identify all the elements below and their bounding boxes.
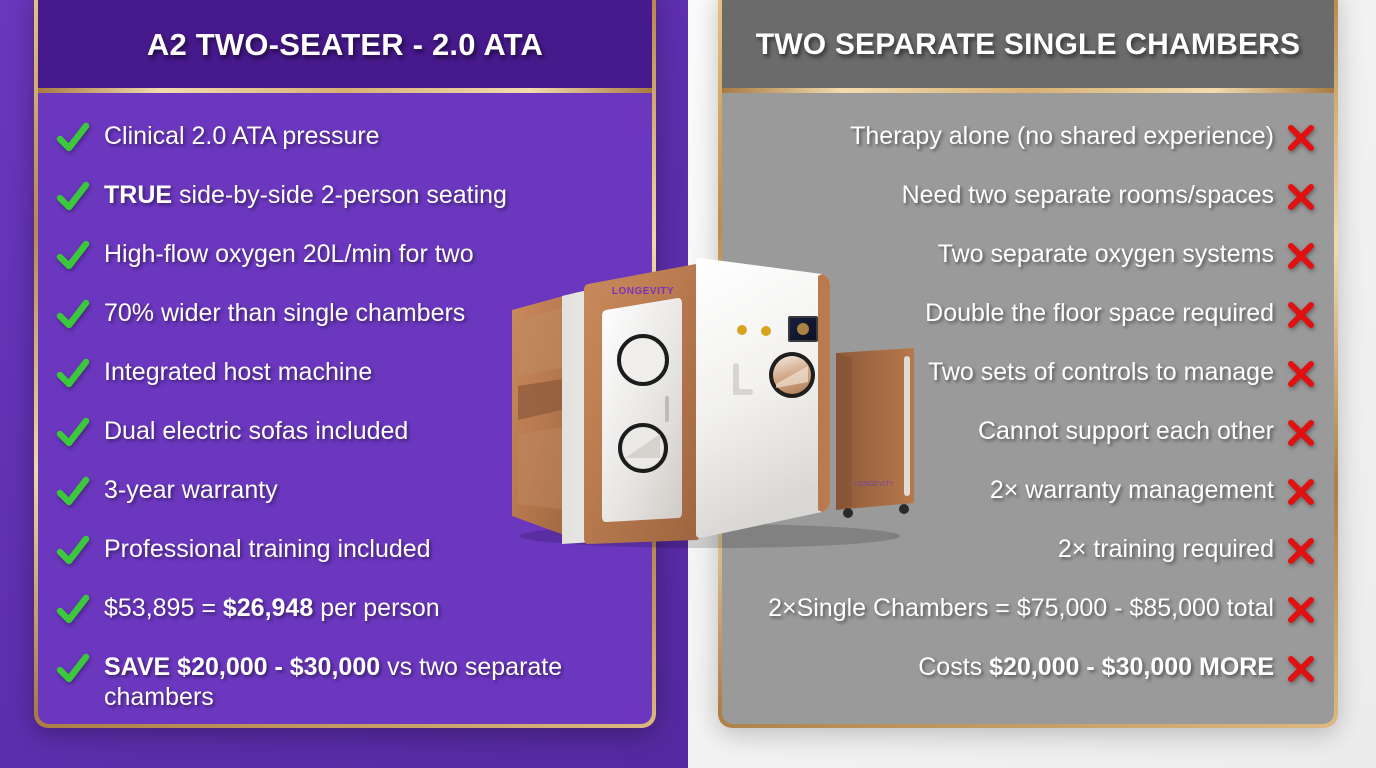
left-feature-row: High-flow oxygen 20L/min for two bbox=[56, 237, 634, 296]
right-feature-text: 2×Single Chambers = $75,000 - $85,000 to… bbox=[768, 591, 1274, 623]
right-feature-row: Need two separate rooms/spaces bbox=[740, 178, 1316, 237]
left-feature-text: 70% wider than single chambers bbox=[104, 296, 465, 328]
right-feature-row: 2× training required bbox=[740, 532, 1316, 591]
left-feature-row: $53,895 = $26,948 per person bbox=[56, 591, 634, 650]
right-feature-row: Costs $20,000 - $30,000 MORE bbox=[740, 650, 1316, 709]
right-card-header: TWO SEPARATE SINGLE CHAMBERS bbox=[722, 0, 1334, 88]
cross-icon bbox=[1286, 241, 1316, 271]
left-feature-row: Professional training included bbox=[56, 532, 634, 591]
left-card-header: A2 TWO-SEATER - 2.0 ATA bbox=[38, 0, 652, 88]
check-icon bbox=[56, 180, 90, 214]
left-feature-text: 3-year warranty bbox=[104, 473, 278, 505]
check-icon bbox=[56, 652, 90, 686]
right-feature-row: 2×Single Chambers = $75,000 - $85,000 to… bbox=[740, 591, 1316, 650]
left-feature-row: TRUE side-by-side 2-person seating bbox=[56, 178, 634, 237]
cross-icon bbox=[1286, 536, 1316, 566]
right-feature-text: 2× training required bbox=[1058, 532, 1274, 564]
cross-icon bbox=[1286, 123, 1316, 153]
right-feature-list: Therapy alone (no shared experience) Nee… bbox=[740, 119, 1316, 709]
left-feature-text: $53,895 = $26,948 per person bbox=[104, 591, 440, 623]
right-feature-text: Cannot support each other bbox=[978, 414, 1274, 446]
right-feature-text: 2× warranty management bbox=[990, 473, 1274, 505]
left-feature-row: Clinical 2.0 ATA pressure bbox=[56, 119, 634, 178]
right-feature-row: Therapy alone (no shared experience) bbox=[740, 119, 1316, 178]
right-feature-text: Two sets of controls to manage bbox=[928, 355, 1274, 387]
left-feature-text: Clinical 2.0 ATA pressure bbox=[104, 119, 380, 151]
cross-icon bbox=[1286, 359, 1316, 389]
cross-icon bbox=[1286, 300, 1316, 330]
comparison-card-two-single-chambers: TWO SEPARATE SINGLE CHAMBERS Therapy alo… bbox=[718, 0, 1338, 728]
right-feature-row: Two sets of controls to manage bbox=[740, 355, 1316, 414]
comparison-card-a2-two-seater: A2 TWO-SEATER - 2.0 ATA Clinical 2.0 ATA… bbox=[34, 0, 656, 728]
right-feature-text: Therapy alone (no shared experience) bbox=[850, 119, 1274, 151]
right-feature-text: Two separate oxygen systems bbox=[938, 237, 1274, 269]
right-feature-text: Need two separate rooms/spaces bbox=[902, 178, 1274, 210]
cross-icon bbox=[1286, 595, 1316, 625]
left-feature-row: 3-year warranty bbox=[56, 473, 634, 532]
cross-icon bbox=[1286, 654, 1316, 684]
left-feature-text: High-flow oxygen 20L/min for two bbox=[104, 237, 474, 269]
right-feature-row: Two separate oxygen systems bbox=[740, 237, 1316, 296]
right-feature-text: Double the floor space required bbox=[925, 296, 1274, 328]
left-feature-row: 70% wider than single chambers bbox=[56, 296, 634, 355]
left-feature-row: Integrated host machine bbox=[56, 355, 634, 414]
check-icon bbox=[56, 239, 90, 273]
check-icon bbox=[56, 298, 90, 332]
cross-icon bbox=[1286, 182, 1316, 212]
left-feature-row: Dual electric sofas included bbox=[56, 414, 634, 473]
right-card-body: Therapy alone (no shared experience) Nee… bbox=[722, 93, 1334, 724]
left-feature-text: TRUE side-by-side 2-person seating bbox=[104, 178, 507, 210]
check-icon bbox=[56, 593, 90, 627]
cross-icon bbox=[1286, 418, 1316, 448]
right-feature-row: 2× warranty management bbox=[740, 473, 1316, 532]
check-icon bbox=[56, 357, 90, 391]
left-feature-list: Clinical 2.0 ATA pressure TRUE side-by-s… bbox=[56, 119, 634, 712]
right-feature-text: Costs $20,000 - $30,000 MORE bbox=[918, 650, 1274, 682]
left-feature-row: SAVE $20,000 - $30,000 vs two separate c… bbox=[56, 650, 634, 712]
right-feature-row: Double the floor space required bbox=[740, 296, 1316, 355]
check-icon bbox=[56, 534, 90, 568]
right-card-title: TWO SEPARATE SINGLE CHAMBERS bbox=[756, 28, 1301, 62]
left-feature-text: Dual electric sofas included bbox=[104, 414, 408, 446]
left-feature-text: Integrated host machine bbox=[104, 355, 372, 387]
cross-icon bbox=[1286, 477, 1316, 507]
left-card-title: A2 TWO-SEATER - 2.0 ATA bbox=[147, 27, 543, 63]
left-feature-text: Professional training included bbox=[104, 532, 431, 564]
left-feature-text: SAVE $20,000 - $30,000 vs two separate c… bbox=[104, 650, 614, 712]
check-icon bbox=[56, 475, 90, 509]
check-icon bbox=[56, 121, 90, 155]
left-card-body: Clinical 2.0 ATA pressure TRUE side-by-s… bbox=[38, 93, 652, 724]
right-feature-row: Cannot support each other bbox=[740, 414, 1316, 473]
check-icon bbox=[56, 416, 90, 450]
